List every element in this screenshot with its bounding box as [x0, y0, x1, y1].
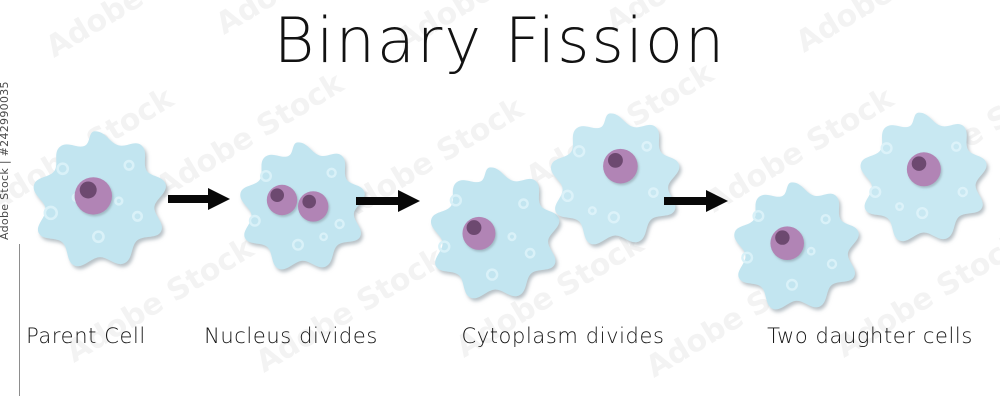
cell-daughter-upper: [838, 96, 1000, 262]
nucleolus: [302, 195, 316, 209]
nucleolus: [775, 230, 789, 244]
nucleolus: [608, 153, 623, 168]
stage-label-parent-cell: Parent Cell: [0, 324, 172, 348]
nucleus-group: [603, 149, 638, 184]
cell-two-nuclei: [218, 124, 378, 292]
stage-label-cytoplasm-divides: Cytoplasm divides: [443, 324, 683, 348]
nucleolus: [80, 181, 97, 198]
nucleus-group: [462, 217, 495, 250]
nucleus-group-right: [298, 191, 328, 221]
nucleus-group: [907, 152, 941, 186]
cell-parent: [10, 112, 180, 290]
nucleus: [770, 226, 804, 260]
stage-label-nucleus-divides: Nucleus divides: [186, 324, 396, 348]
page-title: Binary Fission: [0, 8, 1000, 73]
nucleus: [907, 152, 941, 186]
nucleus-group: [75, 177, 112, 214]
cell-dividing-upper: [528, 96, 693, 266]
nucleolus: [912, 156, 927, 171]
nucleolus: [270, 188, 284, 202]
watermark-rule: [19, 244, 20, 396]
nucleus: [603, 149, 638, 184]
nucleolus: [467, 220, 482, 235]
stage-label-two-daughter-cells: Two daughter cells: [740, 324, 1000, 348]
binary-fission-diagram: Adobe StockAdobe StockAdobe StockAdobe S…: [0, 0, 1000, 400]
nucleus-group-left: [267, 185, 297, 215]
nucleus-group: [770, 226, 804, 260]
nucleus: [462, 217, 495, 250]
